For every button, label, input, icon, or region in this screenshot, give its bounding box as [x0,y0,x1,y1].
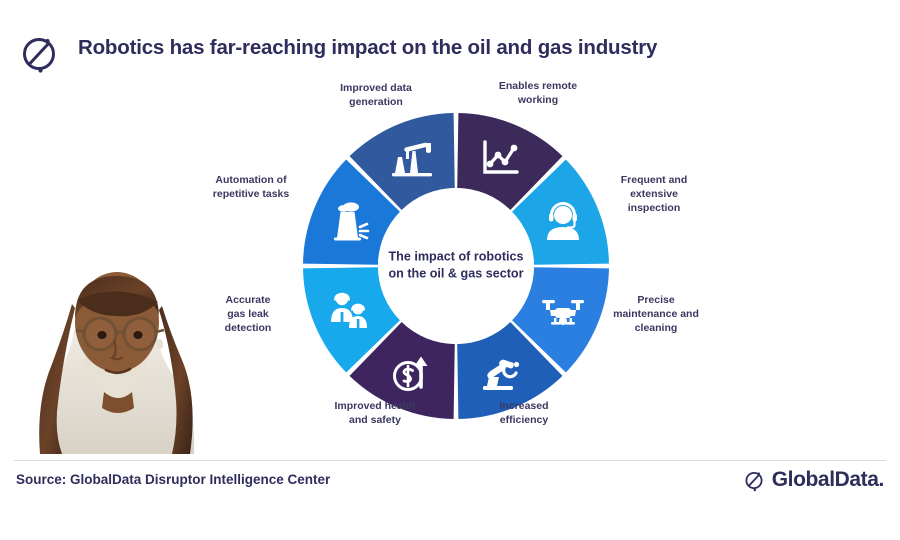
footer-divider [14,460,886,461]
wheel-label-accurate-gas-leak-detection: Accurate gas leak detection [196,294,300,336]
source-note: Source: GlobalData Disruptor Intelligenc… [16,472,330,487]
wheel-label-automation-repetitive-tasks: Automation of repetitive tasks [196,174,306,202]
wheel-label-frequent-extensive-inspection: Frequent and extensive inspection [594,174,714,216]
page-title: Robotics has far-reaching impact on the … [78,36,657,60]
wheel-label-enables-remote-working: Enables remote working [468,80,608,108]
wheel-label-improved-data-generation: Improved data generation [306,82,446,110]
wheel-label-precise-maintenance-cleaning: Precise maintenance and cleaning [594,294,718,336]
slide-header: Robotics has far-reaching impact on the … [0,22,900,82]
wheel-label-increased-efficiency: Increased efficiency [464,400,584,428]
globaldata-footer-logo: GlobalData. [742,466,884,494]
slide-canvas: Robotics has far-reaching impact on the … [0,0,900,540]
wheel-center-label: The impact of robotics on the oil & gas … [383,249,529,284]
globaldata-mark-icon [742,467,766,493]
impact-wheel-diagram: The impact of robotics on the oil & gas … [196,78,716,448]
presenter-webcam-feed [22,252,208,454]
wheel-label-improved-health-safety: Improved health and safety [300,400,450,428]
donut-ring: The impact of robotics on the oil & gas … [296,106,616,426]
globaldata-wordmark: GlobalData. [772,468,884,492]
globaldata-mark-icon [16,30,62,76]
